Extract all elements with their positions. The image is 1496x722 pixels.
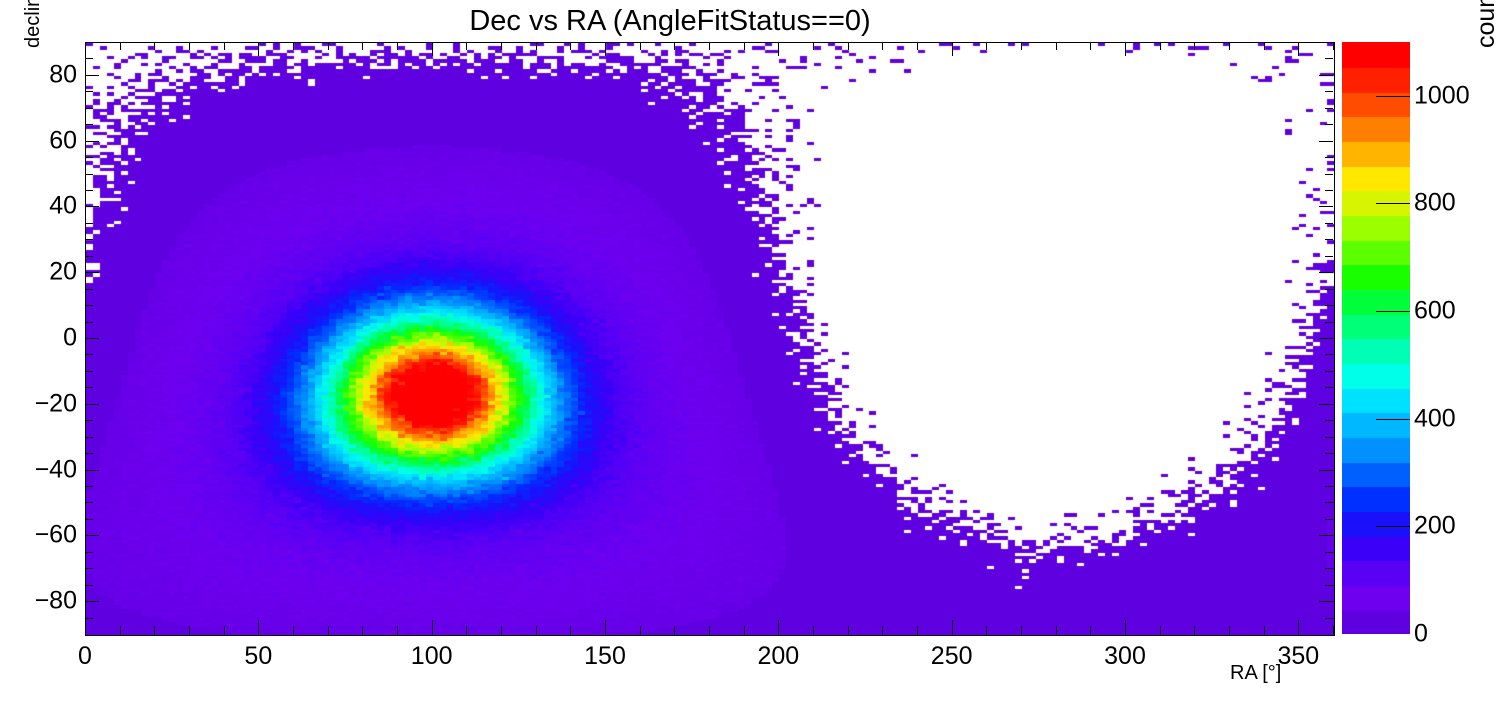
x-minor-tick [501,626,502,634]
x-major-tick-top [1298,42,1299,56]
y-minor-tick [85,239,93,240]
y-minor-tick-right [1325,305,1333,306]
x-minor-tick-top [397,42,398,50]
x-tick-label: 100 [411,642,453,671]
x-minor-tick-top [709,42,710,50]
z-major-tick [1376,419,1410,420]
x-tick-label: 350 [1277,642,1319,671]
y-minor-tick [85,519,93,520]
y-minor-tick [85,420,93,421]
y-minor-tick [85,174,93,175]
x-minor-tick [536,626,537,634]
x-minor-tick-top [536,42,537,50]
y-major-tick-right [1319,75,1333,76]
x-minor-tick-top [1056,42,1057,50]
y-major-tick [85,206,99,207]
y-minor-tick [85,91,93,92]
y-minor-tick-right [1325,322,1333,323]
x-tick-label: 200 [757,642,799,671]
y-major-tick [85,75,99,76]
y-minor-tick [85,289,93,290]
x-minor-tick-top [813,42,814,50]
color-bar-canvas [1342,42,1410,634]
x-minor-tick [362,626,363,634]
y-major-tick [85,404,99,405]
z-tick-label: 800 [1414,189,1456,218]
y-minor-tick-right [1325,91,1333,92]
y-minor-tick-right [1325,124,1333,125]
y-minor-tick-right [1325,618,1333,619]
y-tick-label: 80 [49,60,77,89]
y-tick-label: −40 [35,455,77,484]
y-minor-tick-right [1325,354,1333,355]
y-major-tick-right [1319,535,1333,536]
x-minor-tick [293,626,294,634]
y-minor-tick [85,371,93,372]
y-minor-tick [85,568,93,569]
x-minor-tick-top [1333,42,1334,50]
y-minor-tick [85,58,93,59]
x-major-tick-top [432,42,433,56]
y-minor-tick-right [1325,552,1333,553]
x-minor-tick-top [466,42,467,50]
y-minor-tick [85,256,93,257]
y-minor-tick [85,502,93,503]
y-tick-label: 20 [49,258,77,287]
x-minor-tick [882,626,883,634]
x-minor-tick-top [189,42,190,50]
y-minor-tick [85,190,93,191]
x-major-tick-top [85,42,86,56]
x-minor-tick-top [986,42,987,50]
z-major-tick [1376,526,1410,527]
x-minor-tick-top [640,42,641,50]
y-minor-tick-right [1325,289,1333,290]
z-tick-label: 1000 [1414,81,1470,110]
y-minor-tick [85,437,93,438]
y-minor-tick-right [1325,157,1333,158]
x-axis-label: RA [°] [1230,662,1281,685]
x-major-tick-top [952,42,953,56]
y-minor-tick-right [1325,568,1333,569]
y-tick-label: 60 [49,126,77,155]
x-minor-tick-top [1021,42,1022,50]
z-tick-label: 400 [1414,404,1456,433]
z-major-tick [1376,96,1410,97]
y-minor-tick [85,354,93,355]
y-minor-tick-right [1325,174,1333,175]
x-minor-tick-top [882,42,883,50]
x-minor-tick [397,626,398,634]
y-major-tick [85,141,99,142]
x-minor-tick [986,626,987,634]
y-minor-tick-right [1325,239,1333,240]
x-major-tick [605,620,606,634]
y-tick-label: −60 [35,521,77,550]
y-minor-tick [85,387,93,388]
x-minor-tick [1090,626,1091,634]
x-minor-tick-top [570,42,571,50]
y-major-tick [85,338,99,339]
y-major-tick-right [1319,338,1333,339]
x-minor-tick [570,626,571,634]
x-minor-tick-top [120,42,121,50]
y-major-tick [85,272,99,273]
y-tick-label: 40 [49,192,77,221]
y-axis-label: declination [°] [22,48,46,248]
x-minor-tick [813,626,814,634]
x-minor-tick [1056,626,1057,634]
y-minor-tick [85,552,93,553]
x-major-tick-top [778,42,779,56]
x-tick-label: 250 [931,642,973,671]
x-minor-tick [1333,626,1334,634]
y-minor-tick-right [1325,420,1333,421]
x-minor-tick-top [501,42,502,50]
z-major-tick [1376,203,1410,204]
x-minor-tick-top [848,42,849,50]
x-tick-label: 150 [584,642,626,671]
y-minor-tick [85,305,93,306]
x-major-tick-top [605,42,606,56]
x-minor-tick [1194,626,1195,634]
y-minor-tick-right [1325,453,1333,454]
y-minor-tick-right [1325,502,1333,503]
x-major-tick [1125,620,1126,634]
y-minor-tick [85,486,93,487]
x-major-tick-top [258,42,259,56]
x-minor-tick [848,626,849,634]
x-major-tick [1298,620,1299,634]
y-minor-tick-right [1325,519,1333,520]
y-minor-tick [85,157,93,158]
y-minor-tick-right [1325,387,1333,388]
x-minor-tick [466,626,467,634]
x-major-tick [85,620,86,634]
y-major-tick [85,470,99,471]
x-minor-tick-top [1229,42,1230,50]
x-major-tick [258,620,259,634]
y-major-tick-right [1319,272,1333,273]
y-minor-tick-right [1325,585,1333,586]
x-major-tick [432,620,433,634]
y-minor-tick-right [1325,108,1333,109]
y-major-tick-right [1319,206,1333,207]
x-tick-label: 300 [1104,642,1146,671]
y-major-tick-right [1319,141,1333,142]
y-tick-label: −80 [35,587,77,616]
x-minor-tick-top [1090,42,1091,50]
x-tick-label: 0 [78,642,92,671]
x-major-tick [952,620,953,634]
y-minor-tick-right [1325,190,1333,191]
z-major-tick [1376,311,1410,312]
x-tick-label: 50 [244,642,272,671]
x-minor-tick-top [674,42,675,50]
y-minor-tick [85,108,93,109]
y-minor-tick [85,585,93,586]
x-minor-tick [224,626,225,634]
x-minor-tick-top [154,42,155,50]
x-minor-tick [674,626,675,634]
y-minor-tick-right [1325,223,1333,224]
y-major-tick-right [1319,404,1333,405]
page-title: Dec vs RA (AngleFitStatus==0) [0,4,1340,38]
y-minor-tick-right [1325,486,1333,487]
color-bar-label: count [1472,48,1496,168]
x-minor-tick-top [744,42,745,50]
x-minor-tick [328,626,329,634]
color-bar[interactable] [1342,42,1410,634]
root-canvas: Dec vs RA (AngleFitStatus==0) declinatio… [0,0,1496,722]
x-minor-tick [917,626,918,634]
z-tick-label: 600 [1414,297,1456,326]
y-minor-tick [85,322,93,323]
x-minor-tick-top [1160,42,1161,50]
x-minor-tick [189,626,190,634]
x-minor-tick-top [293,42,294,50]
x-minor-tick-top [328,42,329,50]
x-minor-tick [154,626,155,634]
y-minor-tick [85,223,93,224]
y-major-tick-right [1319,601,1333,602]
x-major-tick [778,620,779,634]
x-minor-tick [1160,626,1161,634]
y-major-tick-right [1319,470,1333,471]
plot-frame [85,42,1335,636]
x-minor-tick [1264,626,1265,634]
y-minor-tick-right [1325,256,1333,257]
y-minor-tick-right [1325,58,1333,59]
x-minor-tick [1229,626,1230,634]
x-minor-tick-top [362,42,363,50]
histogram-canvas [86,43,1334,635]
y-minor-tick-right [1325,437,1333,438]
z-tick-label: 0 [1414,620,1428,649]
x-minor-tick [709,626,710,634]
x-minor-tick-top [1194,42,1195,50]
y-minor-tick-right [1325,371,1333,372]
y-tick-label: 0 [63,324,77,353]
x-major-tick-top [1125,42,1126,56]
x-minor-tick [1021,626,1022,634]
y-minor-tick [85,124,93,125]
y-minor-tick [85,453,93,454]
x-minor-tick [120,626,121,634]
x-minor-tick-top [917,42,918,50]
x-minor-tick-top [224,42,225,50]
y-major-tick [85,535,99,536]
x-minor-tick [744,626,745,634]
x-minor-tick-top [1264,42,1265,50]
y-tick-label: −20 [35,389,77,418]
z-tick-label: 200 [1414,512,1456,541]
x-minor-tick [640,626,641,634]
y-major-tick [85,601,99,602]
y-minor-tick [85,618,93,619]
